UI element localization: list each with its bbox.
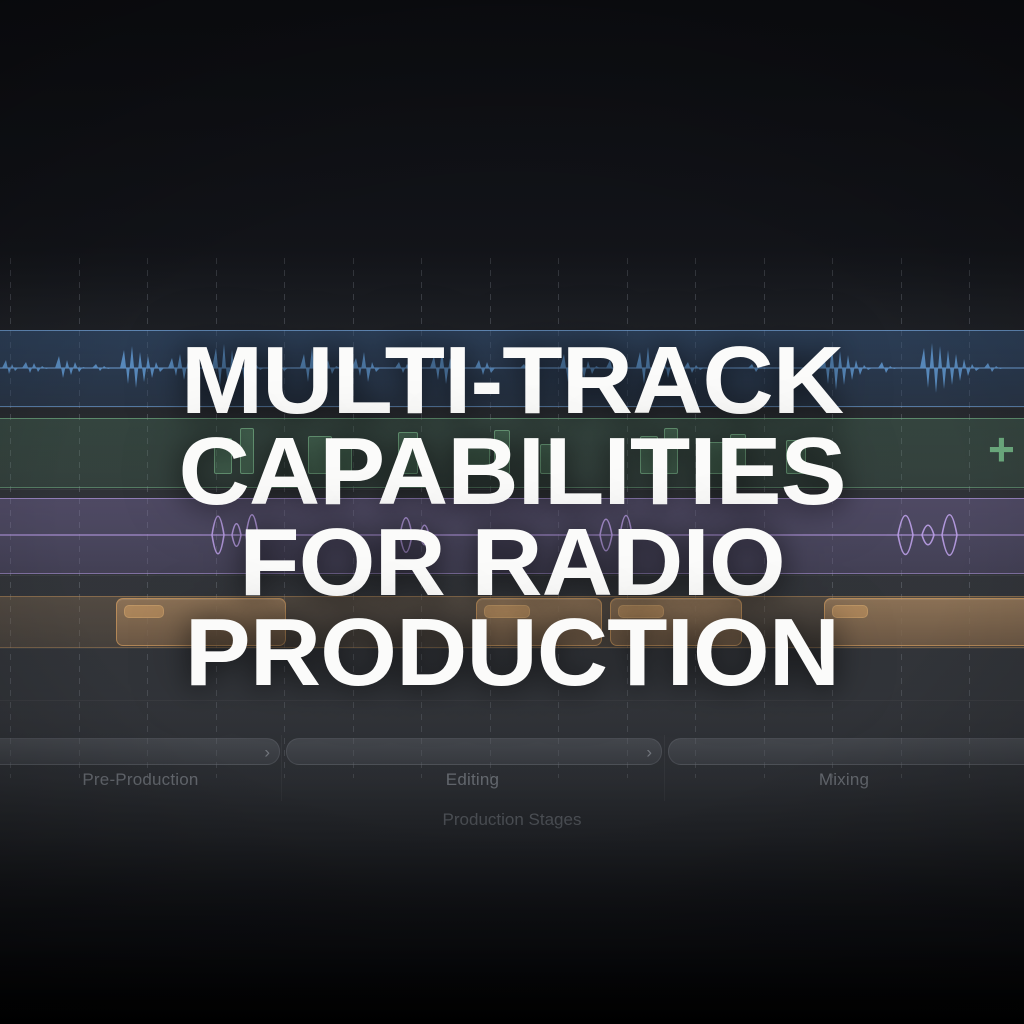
page-title-line-4: PRODUCTION bbox=[0, 608, 1024, 699]
page-title: MULTI-TRACKCAPABILITIESFOR RADIOPRODUCTI… bbox=[0, 336, 1024, 699]
page-title-line-2: CAPABILITIES bbox=[0, 427, 1024, 518]
axis-label-production-stages: Production Stages bbox=[0, 810, 1024, 830]
stage-bar-mixing[interactable]: › bbox=[668, 738, 1024, 765]
stage-bar-pre-production[interactable]: › bbox=[0, 738, 280, 765]
stage-label-mixing: Mixing bbox=[664, 770, 1024, 790]
stage-label-editing: Editing bbox=[281, 770, 664, 790]
page-title-line-1: MULTI-TRACK bbox=[0, 336, 1024, 427]
stage-divider bbox=[664, 735, 665, 801]
stage-label-pre-production: Pre-Production bbox=[0, 770, 281, 790]
page-title-line-3: FOR RADIO bbox=[0, 518, 1024, 609]
stage-divider bbox=[281, 735, 282, 801]
chevron-right-icon: › bbox=[646, 743, 652, 760]
chevron-right-icon: › bbox=[264, 743, 270, 760]
stage-bar-editing[interactable]: › bbox=[286, 738, 662, 765]
poster-canvas: + bbox=[0, 0, 1024, 1024]
